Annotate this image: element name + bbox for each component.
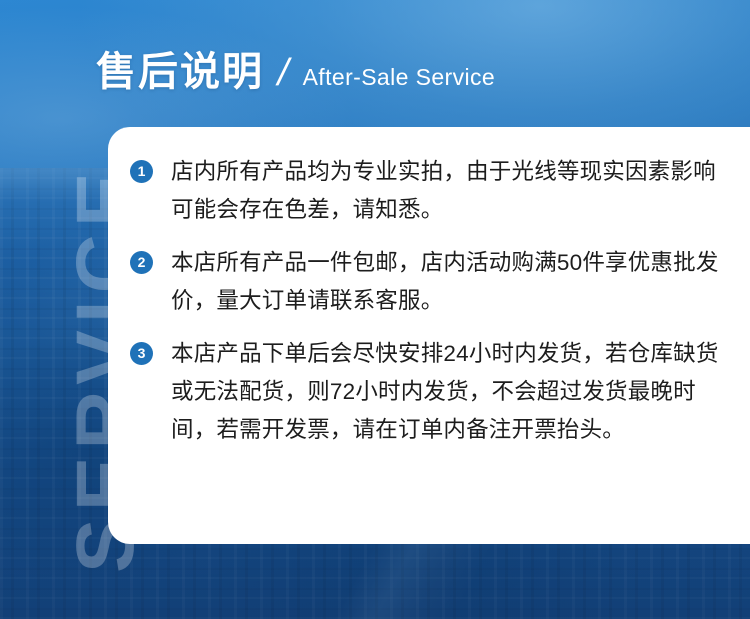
list-item-text: 本店产品下单后会尽快安排24小时内发货，若仓库缺货或无法配货，则72小时内发货，…: [171, 335, 736, 449]
list-item-text: 本店所有产品一件包邮，店内活动购满50件享优惠批发价，量大订单请联系客服。: [171, 244, 736, 320]
after-sale-service-banner: SERVICE 售后说明 / After-Sale Service 1 店内所有…: [0, 0, 750, 619]
list-item-number-badge: 3: [130, 342, 153, 365]
list-item-number-badge: 2: [130, 251, 153, 274]
list-item: 1 店内所有产品均为专业实拍，由于光线等现实因素影响可能会存在色差，请知悉。: [108, 153, 750, 229]
page-title-chinese: 售后说明: [96, 52, 264, 92]
list-item-text: 店内所有产品均为专业实拍，由于光线等现实因素影响可能会存在色差，请知悉。: [171, 153, 736, 229]
service-terms-list: 1 店内所有产品均为专业实拍，由于光线等现实因素影响可能会存在色差，请知悉。 2…: [108, 153, 750, 449]
page-title-english: After-Sale Service: [303, 66, 496, 89]
title-separator-slash: /: [274, 54, 293, 92]
list-item: 2 本店所有产品一件包邮，店内活动购满50件享优惠批发价，量大订单请联系客服。: [108, 244, 750, 320]
service-terms-card: 1 店内所有产品均为专业实拍，由于光线等现实因素影响可能会存在色差，请知悉。 2…: [108, 127, 750, 544]
list-item-number-badge: 1: [130, 160, 153, 183]
banner-header: 售后说明 / After-Sale Service: [96, 52, 495, 92]
list-item: 3 本店产品下单后会尽快安排24小时内发货，若仓库缺货或无法配货，则72小时内发…: [108, 335, 750, 449]
